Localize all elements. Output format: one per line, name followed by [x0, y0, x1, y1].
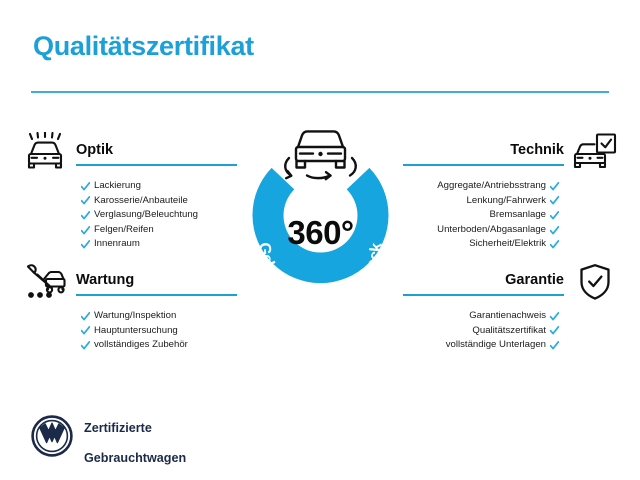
list-item-label: vollständige Unterlagen	[446, 338, 546, 353]
list-item: Aggregate/Antriebsstrang	[437, 179, 559, 194]
list-item: Hauptuntersuchung	[81, 324, 237, 339]
section-garantie: Garantie Garantienachweis Qualitätszerti…	[403, 262, 618, 353]
check-icon	[81, 182, 90, 191]
section-underline	[403, 294, 564, 296]
section-title: Wartung	[76, 273, 237, 289]
list-item-label: Unterboden/Abgasanlage	[437, 223, 546, 238]
section-title: Garantie	[403, 273, 564, 289]
list-item-label: Karosserie/Anbauteile	[94, 194, 188, 209]
list-item: Unterboden/Abgasanlage	[437, 223, 559, 238]
badge-degrees: 360°	[233, 214, 408, 252]
checklist-technik: Aggregate/Antriebsstrang Lenkung/Fahrwer…	[403, 179, 618, 252]
list-item-label: Felgen/Reifen	[94, 223, 154, 238]
car-headlights-icon	[22, 132, 68, 172]
list-item: Karosserie/Anbauteile	[81, 194, 237, 209]
list-item: Felgen/Reifen	[81, 223, 237, 238]
section-wartung: Wartung Wartung/Inspektion Hauptuntersuc…	[22, 262, 237, 353]
check-icon	[81, 326, 90, 335]
check-icon	[550, 182, 559, 191]
list-item: Innenraum	[81, 237, 237, 252]
list-item-label: Verglasung/Beleuchtung	[94, 208, 198, 223]
check-icon	[550, 196, 559, 205]
section-optik: Optik Lackierung Karosserie/Anbauteile V…	[22, 132, 237, 252]
list-item-label: Innenraum	[94, 237, 140, 252]
section-title-wrap: Wartung	[76, 262, 237, 296]
list-item: Verglasung/Beleuchtung	[81, 208, 237, 223]
list-item: vollständiges Zubehör	[81, 338, 237, 353]
check-icon	[550, 226, 559, 235]
section-underline	[76, 294, 237, 296]
list-item: Lenkung/Fahrwerk	[467, 194, 559, 209]
section-technik: Technik Aggregate/Antriebsstrang Lenkung…	[403, 132, 618, 252]
check-icon	[81, 312, 90, 321]
check-icon	[81, 211, 90, 220]
section-underline	[403, 164, 564, 166]
car-rotation-icon	[285, 131, 356, 179]
check-icon	[81, 240, 90, 249]
checklist-garantie: Garantienachweis Qualitätszertifikat vol…	[403, 309, 618, 353]
list-item-label: Aggregate/Antriebsstrang	[437, 179, 546, 194]
section-title-wrap: Optik	[76, 132, 237, 166]
list-item-label: Wartung/Inspektion	[94, 309, 176, 324]
list-item: Lackierung	[81, 179, 237, 194]
footer-logo-text: Zertifizierte Gebrauchtwagen	[84, 406, 186, 466]
checklist-wartung: Wartung/Inspektion Hauptuntersuchung vol…	[22, 309, 237, 353]
list-item-label: Lenkung/Fahrwerk	[467, 194, 546, 209]
check-icon	[550, 341, 559, 350]
shield-check-icon	[572, 262, 618, 302]
wrench-car-icon	[22, 262, 68, 302]
section-title-wrap: Technik	[403, 132, 564, 166]
list-item: Bremsanlage	[489, 208, 559, 223]
section-header: Technik	[403, 132, 618, 172]
footer-line-2: Gebrauchtwagen	[84, 451, 186, 465]
list-item: Wartung/Inspektion	[81, 309, 237, 324]
section-header: Optik	[22, 132, 237, 172]
footer-line-1: Zertifizierte	[84, 421, 152, 435]
list-item-label: Hauptuntersuchung	[94, 324, 178, 339]
section-header: Garantie	[403, 262, 618, 302]
list-item-label: Lackierung	[94, 179, 141, 194]
list-item: Qualitätszertifikat	[472, 324, 559, 339]
check-icon	[550, 240, 559, 249]
list-item: Garantienachweis	[469, 309, 559, 324]
check-icon	[550, 326, 559, 335]
section-underline	[76, 164, 237, 166]
title-divider	[31, 91, 609, 93]
check-icon	[81, 196, 90, 205]
list-item-label: Sicherheit/Elektrik	[469, 237, 546, 252]
badge-360-check: Gebrauchtwagen-Check 360°	[233, 118, 408, 318]
list-item: vollständige Unterlagen	[446, 338, 559, 353]
list-item-label: Qualitätszertifikat	[472, 324, 546, 339]
list-item: Sicherheit/Elektrik	[469, 237, 559, 252]
checklist-optik: Lackierung Karosserie/Anbauteile Verglas…	[22, 179, 237, 252]
footer-logo-block: Zertifizierte Gebrauchtwagen	[31, 406, 186, 466]
list-item-label: Garantienachweis	[469, 309, 546, 324]
section-title: Optik	[76, 143, 237, 159]
check-icon	[81, 226, 90, 235]
check-icon	[550, 211, 559, 220]
volkswagen-logo	[31, 415, 73, 457]
page-title: Qualitätszertifikat	[33, 31, 254, 62]
check-icon	[550, 312, 559, 321]
check-icon	[81, 341, 90, 350]
section-title-wrap: Garantie	[403, 262, 564, 296]
section-header: Wartung	[22, 262, 237, 302]
car-checkbox-icon	[572, 132, 618, 172]
list-item-label: vollständiges Zubehör	[94, 338, 188, 353]
section-title: Technik	[403, 143, 564, 159]
list-item-label: Bremsanlage	[489, 208, 546, 223]
